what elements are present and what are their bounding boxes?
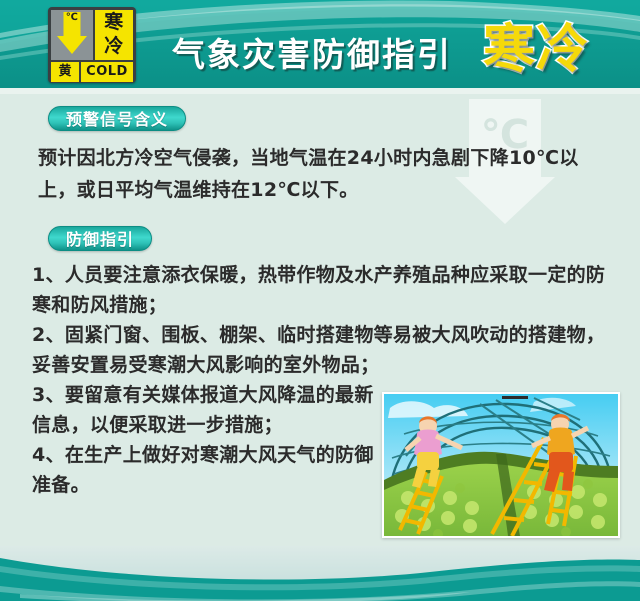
degree-symbol-small: ℃ — [66, 13, 78, 23]
poster-body: ℃ 预警信号含义 预计因北方冷空气侵袭，当地气温在24小时内急剧下降10℃以上，… — [0, 94, 640, 546]
signal-hazard-char-1: 寒 — [95, 10, 133, 34]
poster-footer — [0, 546, 640, 601]
illustration-artwork — [384, 394, 618, 536]
signal-hazard-char-2: 冷 — [95, 34, 133, 58]
signal-level-label: 黄 — [51, 62, 79, 82]
signal-english-label: COLD — [81, 62, 133, 82]
section-badge-meaning: 预警信号含义 — [48, 106, 186, 131]
signal-icon-top-row: ℃ 寒 冷 — [51, 10, 133, 60]
page-title: 气象灾害防御指引 — [172, 28, 452, 76]
weather-warning-poster: ℃ 寒 冷 黄 COLD 气象灾害防御指引 寒冷 ℃ 预警信号 — [0, 0, 640, 601]
section-badge-guidance: 防御指引 — [48, 226, 152, 251]
cold-warning-signal-icon: ℃ 寒 冷 黄 COLD — [48, 7, 136, 83]
guidance-item: 4、在生产上做好对寒潮大风天气的防御准备。 — [32, 440, 384, 500]
footer-wave-decoration — [0, 546, 640, 601]
guidance-item: 1、人员要注意添衣保暖，热带作物及水产养殖品种应采取一定的防寒和防风措施； — [32, 260, 610, 320]
guidance-item: 3、要留意有关媒体报道大风降温的最新信息，以便采取进一步措施； — [32, 380, 384, 440]
guidance-item: 2、固紧门窗、围板、棚架、临时搭建物等易被大风吹动的搭建物，妥善安置易受寒潮大风… — [32, 320, 610, 380]
poster-header: ℃ 寒 冷 黄 COLD 气象灾害防御指引 寒冷 — [0, 0, 640, 88]
signal-hazard-name: 寒 冷 — [95, 10, 133, 60]
signal-icon-bottom-row: 黄 COLD — [51, 62, 133, 82]
hazard-type-title: 寒冷 — [483, 7, 589, 82]
guidance-list: 1、人员要注意添衣保暖，热带作物及水产养殖品种应采取一定的防寒和防风措施； 2、… — [32, 260, 384, 500]
temperature-down-arrow-icon: ℃ — [51, 10, 93, 60]
arrow-head — [57, 36, 87, 54]
meaning-paragraph: 预计因北方冷空气侵袭，当地气温在24小时内急剧下降10℃以上，或日平均气温维持在… — [38, 142, 616, 206]
greenhouse-reinforcement-illustration — [382, 392, 620, 538]
